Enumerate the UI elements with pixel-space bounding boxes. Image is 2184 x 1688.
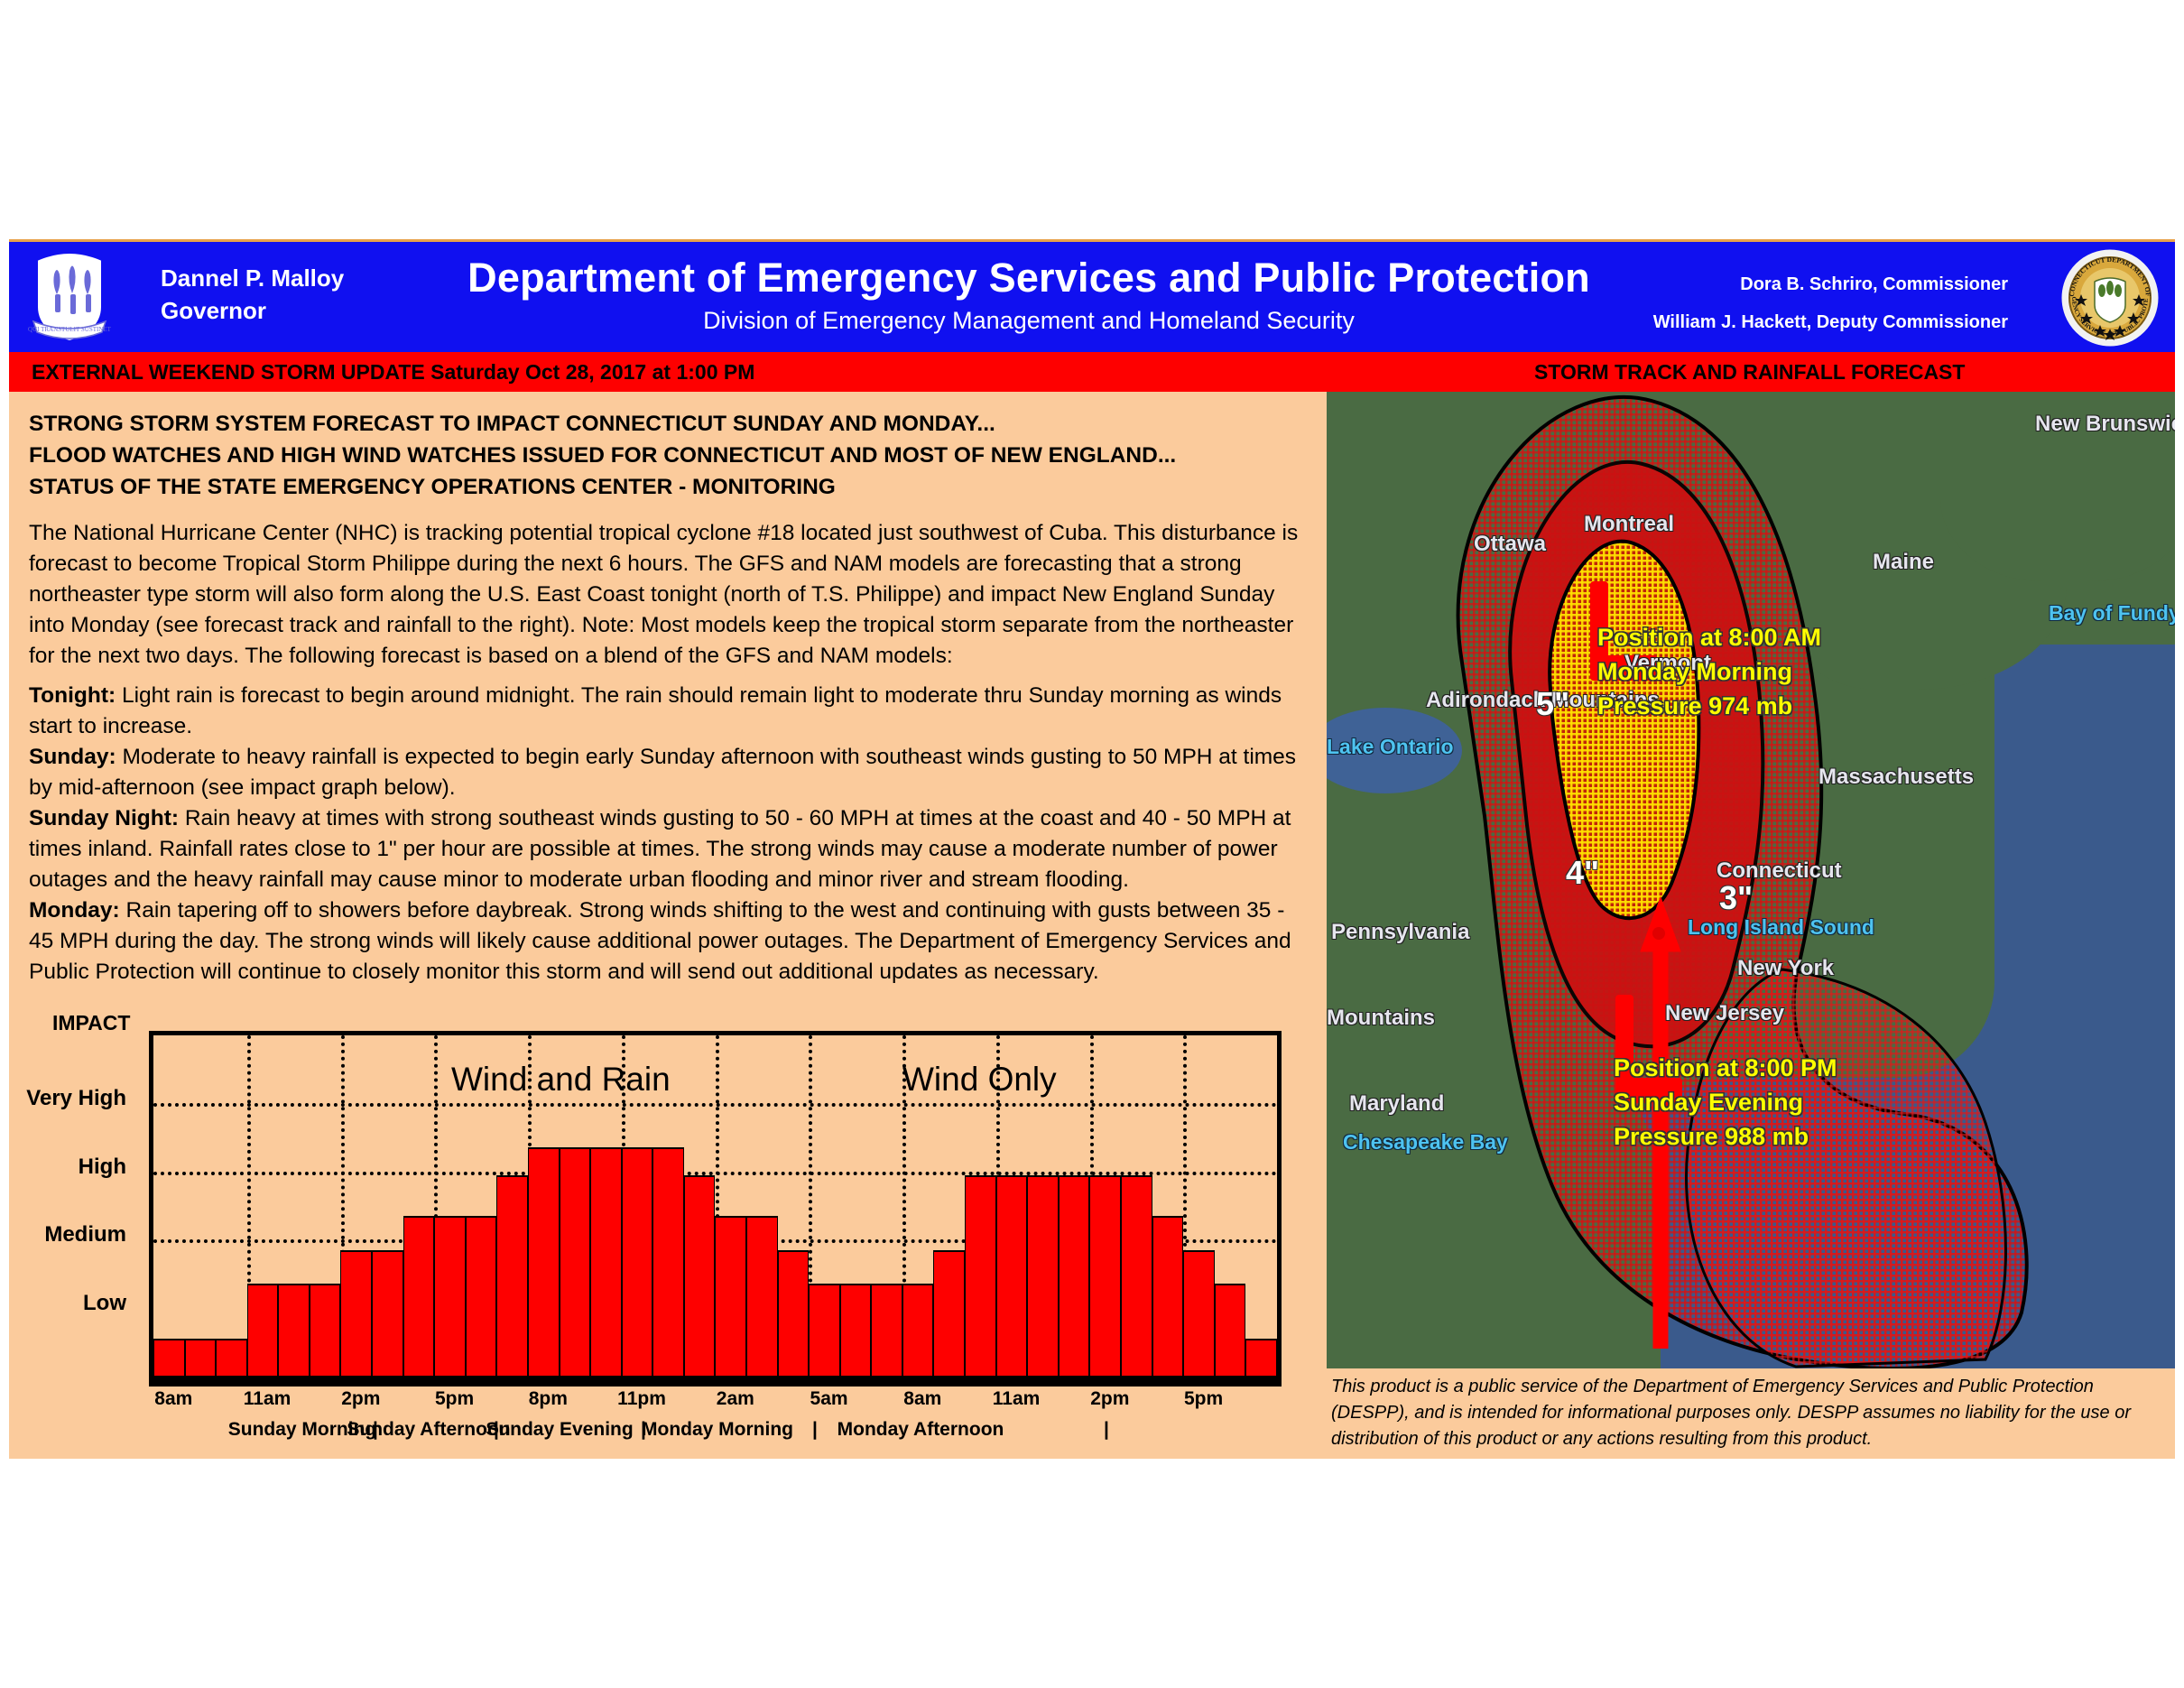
bar-12pm xyxy=(1027,1175,1059,1376)
x-group-separator-1: | xyxy=(494,1419,499,1441)
bar-6pm xyxy=(1215,1284,1246,1376)
connecticut-state-seal-icon: QUI TRANSTULIT SUSTINET xyxy=(22,246,116,347)
x-tick-2: 2pm xyxy=(341,1388,380,1410)
rainfall-contour-label-4in: 4" xyxy=(1566,854,1599,892)
forecast-period-label: Monday: xyxy=(29,898,120,923)
page-header: QUI TRANSTULIT SUSTINET Dannel P. Malloy… xyxy=(9,239,2175,357)
bar-7pm xyxy=(496,1175,528,1376)
forecast-period-label: Sunday: xyxy=(29,745,116,769)
y-axis-label-low: Low xyxy=(18,1291,126,1316)
bar-12am xyxy=(652,1147,684,1376)
bar-1am xyxy=(684,1175,716,1376)
bar-9pm xyxy=(560,1147,591,1376)
commissioner-name: Dora B. Schriro, Commissioner xyxy=(1653,265,2008,303)
bar-5am xyxy=(809,1284,840,1376)
storm-position-line-2: Monday Morning xyxy=(1597,654,1821,689)
forecast-period-2: Sunday: Moderate to heavy rainfall is ex… xyxy=(29,742,1310,803)
forecast-period-text: Rain heavy at times with strong southeas… xyxy=(29,806,1291,892)
headline-list: STRONG STORM SYSTEM FORECAST TO IMPACT C… xyxy=(29,408,1310,503)
map-water-label-long-island-sound: Long Island Sound xyxy=(1688,915,1874,940)
chart-annotation-2: Wind Only xyxy=(902,1061,1057,1099)
chart-plot-area: Wind and RainWind Only xyxy=(149,1031,1282,1380)
rainfall-contour-label-5in: 5" xyxy=(1536,685,1569,723)
chart-x-axis xyxy=(149,1380,1282,1387)
governor-block: Dannel P. Malloy Governor xyxy=(161,262,344,327)
x-tick-6: 2am xyxy=(717,1388,754,1410)
disclaimer-text: This product is a public service of the … xyxy=(1331,1374,2161,1452)
bar-7am xyxy=(871,1284,902,1376)
map-label-maine: Maine xyxy=(1873,550,1934,575)
map-label-ottawa: Ottawa xyxy=(1474,532,1546,557)
bar-8am xyxy=(153,1339,185,1376)
chart-title: IMPACT xyxy=(52,1011,130,1035)
forecast-period-4: Monday: Rain tapering off to showers bef… xyxy=(29,895,1310,988)
storm-track-map-panel: New BrunswickMaineMontrealOttawaVermontM… xyxy=(1322,392,2175,1459)
x-group-separator-2: | xyxy=(641,1419,646,1441)
headline-1: STRONG STORM SYSTEM FORECAST TO IMPACT C… xyxy=(29,408,1310,440)
x-tick-7: 5am xyxy=(810,1388,848,1410)
bar-7pm xyxy=(1245,1339,1277,1376)
bar-12pm xyxy=(278,1284,310,1376)
map-water-label-lake-ontario: Lake Ontario xyxy=(1327,735,1454,759)
map-label-new-york: New York xyxy=(1737,956,1834,981)
storm-position-line-2: Sunday Evening xyxy=(1614,1085,1837,1119)
bar-5pm xyxy=(1183,1250,1215,1376)
x-group-monday-morning: Monday Morning xyxy=(642,1419,793,1441)
y-axis-label-high: High xyxy=(18,1155,126,1180)
bar-6am xyxy=(840,1284,872,1376)
bar-8am xyxy=(902,1284,934,1376)
governor-name: Dannel P. Malloy xyxy=(161,262,344,294)
x-group-separator-3: | xyxy=(812,1419,818,1441)
headline-2: FLOOD WATCHES AND HIGH WIND WATCHES ISSU… xyxy=(29,440,1310,471)
x-group-sunday-evening: Sunday Evening xyxy=(486,1419,633,1441)
map-label-new-jersey: New Jersey xyxy=(1665,1001,1784,1026)
x-tick-1: 11am xyxy=(244,1388,292,1410)
bar-2pm xyxy=(1089,1175,1121,1376)
x-tick-9: 11am xyxy=(993,1388,1041,1410)
page-footer-blank xyxy=(0,1459,2184,1688)
bar-2am xyxy=(715,1216,746,1376)
governor-title: Governor xyxy=(161,294,344,327)
deputy-commissioner-name: William J. Hackett, Deputy Commissioner xyxy=(1653,303,2008,341)
map-label-new-brunswick: New Brunswick xyxy=(2035,412,2175,437)
chart-annotation-1: Wind and Rain xyxy=(451,1061,671,1099)
x-tick-4: 8pm xyxy=(529,1388,568,1410)
commissioner-block: Dora B. Schriro, Commissioner William J.… xyxy=(1653,265,2008,341)
bar-6pm xyxy=(466,1216,497,1376)
bar-9am xyxy=(933,1250,965,1376)
map-water-label-bay-of-fundy: Bay of Fundy xyxy=(2049,601,2175,626)
bar-8pm xyxy=(528,1147,560,1376)
bar-10pm xyxy=(590,1147,622,1376)
bar-11pm xyxy=(622,1147,653,1376)
x-tick-8: 8am xyxy=(903,1388,941,1410)
forecast-period-3: Sunday Night: Rain heavy at times with s… xyxy=(29,803,1310,895)
bar-9am xyxy=(185,1339,217,1376)
x-group-separator-4: | xyxy=(1104,1419,1109,1441)
map-label-mountains: Mountains xyxy=(1327,1006,1435,1031)
bar-3pm xyxy=(1121,1175,1152,1376)
map-label-maryland: Maryland xyxy=(1349,1091,1444,1117)
storm-track-map: New BrunswickMaineMontrealOttawaVermontM… xyxy=(1327,392,2175,1368)
x-tick-11: 5pm xyxy=(1184,1388,1223,1410)
bar-1pm xyxy=(1059,1175,1090,1376)
map-label-pennsylvania: Pennsylvania xyxy=(1331,920,1469,945)
y-axis-label-medium: Medium xyxy=(18,1222,126,1247)
rainfall-contour-label-3in: 3" xyxy=(1719,879,1753,917)
bar-11am xyxy=(996,1175,1028,1376)
intro-paragraph: The National Hurricane Center (NHC) is t… xyxy=(29,518,1306,672)
storm-position-line-3: Pressure 988 mb xyxy=(1614,1119,1837,1154)
x-tick-0: 8am xyxy=(154,1388,192,1410)
forecast-period-label: Sunday Night: xyxy=(29,806,179,830)
bar-10am xyxy=(965,1175,996,1376)
bar-4pm xyxy=(403,1216,435,1376)
bar-10am xyxy=(216,1339,247,1376)
headline-3: STATUS OF THE STATE EMERGENCY OPERATIONS… xyxy=(29,471,1310,503)
x-group-monday-afternoon: Monday Afternoon xyxy=(838,1419,1004,1441)
storm-position-line-1: Position at 8:00 AM xyxy=(1597,620,1821,654)
update-banner: EXTERNAL WEEKEND STORM UPDATE Saturday O… xyxy=(9,352,2175,392)
bar-4am xyxy=(778,1250,810,1376)
forecast-period-text: Light rain is forecast to begin around m… xyxy=(29,683,1282,738)
storm-update-briefing: QUI TRANSTULIT SUSTINET Dannel P. Malloy… xyxy=(0,0,2184,1688)
impact-bar-chart: IMPACT LowMediumHighVery High Wind and R… xyxy=(9,1011,1322,1462)
x-tick-3: 5pm xyxy=(435,1388,474,1410)
bar-5pm xyxy=(434,1216,466,1376)
chart-bars xyxy=(153,1035,1277,1376)
x-group-separator-0: | xyxy=(373,1419,378,1441)
svg-text:QUI TRANSTULIT SUSTINET: QUI TRANSTULIT SUSTINET xyxy=(28,326,112,333)
y-axis-label-very-high: Very High xyxy=(18,1086,126,1111)
forecast-period-1: Tonight: Light rain is forecast to begin… xyxy=(29,681,1310,742)
bar-3pm xyxy=(372,1250,403,1376)
banner-right-text: STORM TRACK AND RAINFALL FORECAST xyxy=(1534,360,1965,385)
department-subtitle: Division of Emergency Management and Hom… xyxy=(397,307,1661,335)
forecast-period-list: Tonight: Light rain is forecast to begin… xyxy=(29,681,1310,988)
bar-2pm xyxy=(340,1250,372,1376)
banner-left-text: EXTERNAL WEEKEND STORM UPDATE Saturday O… xyxy=(32,360,754,385)
despp-agency-seal-icon: CONNECTICUT DEPARTMENT OF EMERGENCY SERV… xyxy=(2059,247,2161,348)
bar-3am xyxy=(746,1216,778,1376)
storm-position-callout-2: Position at 8:00 PMSunday EveningPressur… xyxy=(1614,1051,1837,1154)
bar-4pm xyxy=(1152,1216,1184,1376)
map-label-montreal: Montreal xyxy=(1584,512,1674,537)
forecast-period-text: Moderate to heavy rainfall is expected t… xyxy=(29,745,1296,800)
x-tick-5: 11pm xyxy=(617,1388,666,1410)
storm-position-line-3: Pressure 974 mb xyxy=(1597,689,1821,723)
department-title: Department of Emergency Services and Pub… xyxy=(397,255,1661,301)
map-label-massachusetts: Massachusetts xyxy=(1818,765,1974,790)
storm-position-line-1: Position at 8:00 PM xyxy=(1614,1051,1837,1085)
map-water-label-chesapeake-bay: Chesapeake Bay xyxy=(1343,1130,1508,1155)
storm-center-dot xyxy=(1652,927,1665,940)
bar-1pm xyxy=(310,1284,341,1376)
storm-position-callout-1: Position at 8:00 AMMonday MorningPressur… xyxy=(1597,620,1821,723)
x-tick-10: 2pm xyxy=(1090,1388,1129,1410)
forecast-period-label: Tonight: xyxy=(29,683,116,708)
forecast-period-text: Rain tapering off to showers before dayb… xyxy=(29,898,1291,984)
bar-11am xyxy=(247,1284,279,1376)
